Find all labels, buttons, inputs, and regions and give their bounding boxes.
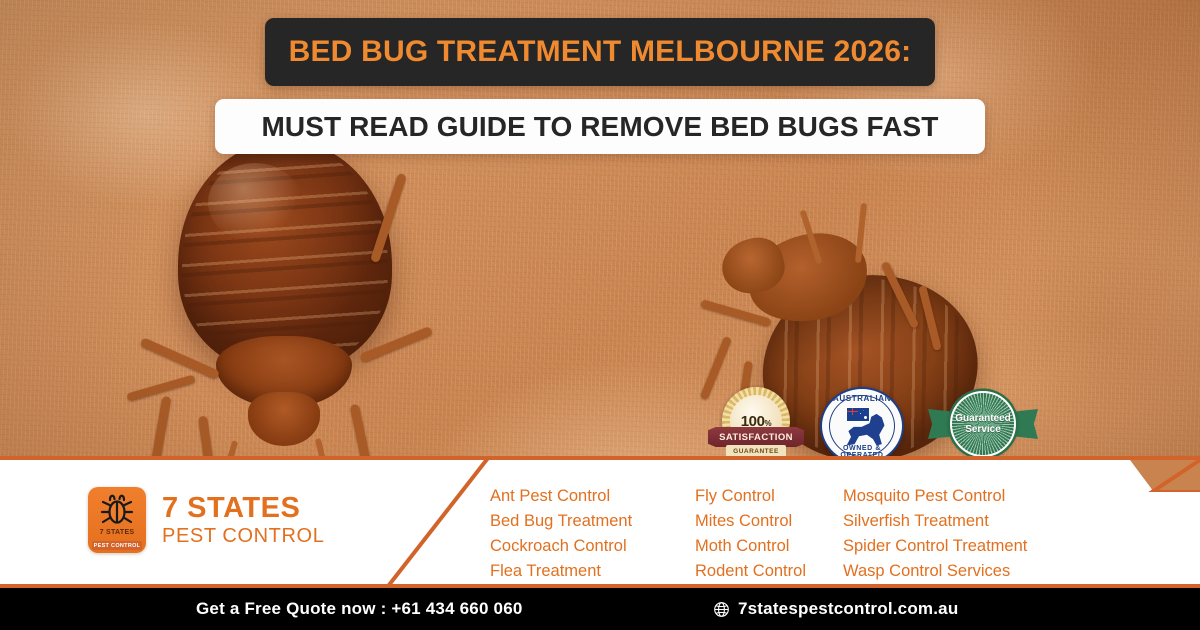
service-item[interactable]: Mosquito Pest Control <box>843 484 1083 509</box>
services-list: Ant Pest Control Bed Bug Treatment Cockr… <box>490 484 1090 584</box>
satisfaction-percent-value: 100 <box>741 413 765 430</box>
satisfaction-label: SATISFACTION <box>719 432 793 443</box>
service-item[interactable]: Bed Bug Treatment <box>490 509 695 534</box>
logo-mark-text-1: 7 STATES <box>92 529 142 536</box>
service-item[interactable]: Flea Treatment <box>490 559 695 584</box>
globe-icon <box>713 601 730 618</box>
website-url: 7statespestcontrol.com.au <box>738 599 958 619</box>
trust-badges: 100% SATISFACTION GUARANTEE AUSTRALIAN O… <box>700 385 1050 465</box>
service-item[interactable]: Spider Control Treatment <box>843 534 1083 559</box>
guarantee-label: GUARANTEE <box>733 448 779 455</box>
headline-line-2: MUST READ GUIDE TO REMOVE BED BUGS FAST <box>262 111 939 143</box>
services-column-1: Ant Pest Control Bed Bug Treatment Cockr… <box>490 484 695 584</box>
logo-name-line-2: PEST CONTROL <box>162 525 324 547</box>
australian-top-label: AUSTRALIAN <box>822 394 902 403</box>
company-logo[interactable]: 7 STATES PEST CONTROL 7 STATES PEST CONT… <box>88 480 378 560</box>
service-item[interactable]: Moth Control <box>695 534 843 559</box>
headline-primary-bar: BED BUG TREATMENT MELBOURNE 2026: <box>265 18 935 86</box>
satisfaction-ribbon: SATISFACTION <box>708 427 804 447</box>
badge-ring: AUSTRALIAN OWNED & OPERATED <box>820 387 904 465</box>
service-item[interactable]: Rodent Control <box>695 559 843 584</box>
contact-footer-bar: Get a Free Quote now : +61 434 660 060 7… <box>0 588 1200 630</box>
australian-owned-badge: AUSTRALIAN OWNED & OPERATED <box>816 385 908 467</box>
service-item[interactable]: Ant Pest Control <box>490 484 695 509</box>
guaranteed-service-badge: Guaranteed Service <box>928 391 1038 459</box>
logo-name-line-1: 7 STATES <box>162 493 324 525</box>
service-item[interactable]: Wasp Control Services <box>843 559 1083 584</box>
panel-divider <box>380 460 490 592</box>
service-item[interactable]: Silverfish Treatment <box>843 509 1083 534</box>
guaranteed-line-2: Service <box>965 424 1001 436</box>
notch-outline <box>1130 460 1200 492</box>
services-column-3: Mosquito Pest Control Silverfish Treatme… <box>843 484 1083 584</box>
services-column-2: Fly Control Mites Control Moth Control R… <box>695 484 843 584</box>
percent-sign: % <box>765 419 772 428</box>
logo-wordmark: 7 STATES PEST CONTROL <box>162 493 324 547</box>
badge-seal: Guaranteed Service <box>950 391 1016 457</box>
satisfaction-guarantee-badge: 100% SATISFACTION GUARANTEE <box>708 387 804 463</box>
headline-line-1: BED BUG TREATMENT MELBOURNE 2026: <box>289 35 912 69</box>
service-item[interactable]: Mites Control <box>695 509 843 534</box>
panel-corner-notch <box>1130 460 1200 490</box>
logo-mark: 7 STATES PEST CONTROL <box>88 487 146 553</box>
phone-cta[interactable]: Get a Free Quote now : +61 434 660 060 <box>196 599 523 619</box>
logo-mark-text-2: PEST CONTROL <box>92 541 142 550</box>
service-item[interactable]: Cockroach Control <box>490 534 695 559</box>
headline-secondary-bar: MUST READ GUIDE TO REMOVE BED BUGS FAST <box>215 99 985 154</box>
website-link[interactable]: 7statespestcontrol.com.au <box>713 599 958 619</box>
bug-icon <box>97 491 137 531</box>
service-item[interactable]: Fly Control <box>695 484 843 509</box>
guaranteed-line-1: Guaranteed <box>955 413 1011 425</box>
australian-flag-icon <box>846 407 870 422</box>
